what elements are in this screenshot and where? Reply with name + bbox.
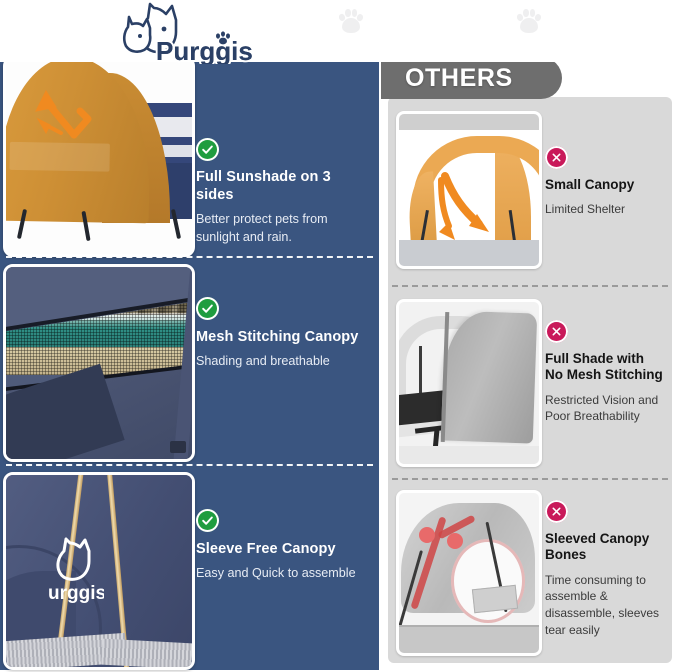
feature-title: Sleeve Free Canopy: [196, 540, 372, 558]
sunshade-direction-arrows-icon: [16, 77, 136, 157]
dog-and-cat-head-logo-icon: Purggis Purggis: [112, 2, 262, 64]
cross-circle-icon: [545, 320, 568, 343]
drawback-title: Small Canopy: [545, 177, 665, 193]
drawback-row-1: Small Canopy Limited Shelter: [388, 97, 672, 282]
cross-glyph: [551, 152, 562, 163]
others-banner: OTHERS: [381, 57, 562, 99]
brand-logo: Purggis Purggis: [112, 2, 262, 64]
purggis-watermark-logo-icon: urggis: [40, 537, 104, 607]
drawback-title: Sleeved Canopy Bones: [545, 531, 665, 564]
check-circle-icon: [196, 509, 219, 532]
row-divider: [6, 256, 373, 258]
row-divider: [392, 478, 668, 480]
svg-text:urggis: urggis: [48, 583, 104, 604]
drawback-text-1: Small Canopy Limited Shelter: [545, 177, 665, 218]
drawback-image-3: [396, 490, 542, 656]
cross-circle-icon: [545, 500, 568, 523]
feature-image-3: urggis: [3, 472, 195, 670]
drawback-title: Full Shade with No Mesh Stitching: [545, 351, 665, 384]
drawback-row-2: Full Shade with No Mesh Stitching Restri…: [388, 285, 672, 475]
check-glyph: [201, 302, 214, 315]
drawback-row-3: Sleeved Canopy Bones Time consuming to a…: [388, 478, 672, 663]
cross-circle-icon: [545, 146, 568, 169]
feature-title: Mesh Stitching Canopy: [196, 328, 372, 346]
row-divider: [392, 285, 668, 287]
paw-print-icon: [338, 8, 364, 34]
feature-subtitle: Shading and breathable: [196, 353, 372, 371]
comparison-infographic: OTHERS Purggis Purggis: [0, 0, 679, 670]
header-bar: [0, 0, 679, 62]
cross-glyph: [551, 506, 562, 517]
check-glyph: [201, 514, 214, 527]
drawback-text-3: Sleeved Canopy Bones Time consuming to a…: [545, 531, 665, 638]
feature-row-1: Full Sunshade on 3 sides Better protect …: [0, 46, 379, 254]
row-divider: [6, 464, 373, 466]
check-circle-icon: [196, 297, 219, 320]
drawback-text-2: Full Shade with No Mesh Stitching Restri…: [545, 351, 665, 425]
feature-title: Full Sunshade on 3 sides: [196, 168, 372, 204]
others-label: OTHERS: [405, 64, 513, 93]
check-circle-icon: [196, 138, 219, 161]
feature-text-3: Sleeve Free Canopy Easy and Quick to ass…: [196, 540, 372, 583]
feature-subtitle: Easy and Quick to assemble: [196, 565, 372, 583]
drawback-image-2: [396, 299, 542, 467]
feature-row-3: urggis Sleeve Free Canopy Easy and Quick…: [0, 464, 379, 672]
svg-text:Purggis: Purggis: [156, 36, 253, 64]
feature-text-1: Full Sunshade on 3 sides Better protect …: [196, 168, 372, 247]
feature-subtitle: Better protect pets from sunlight and ra…: [196, 211, 372, 247]
paw-print-icon: [516, 8, 542, 34]
cross-glyph: [551, 326, 562, 337]
feature-row-2: Mesh Stitching Canopy Shading and breath…: [0, 256, 379, 464]
feature-image-1: [3, 56, 195, 257]
drawback-subtitle: Limited Shelter: [545, 201, 665, 218]
limited-shelter-arrows-icon: [423, 170, 519, 250]
feature-image-2: [3, 264, 195, 462]
drawback-subtitle: Time consuming to assemble & disassemble…: [545, 572, 665, 638]
drawback-image-1: [396, 111, 542, 269]
check-glyph: [201, 143, 214, 156]
drawback-subtitle: Restricted Vision and Poor Breathability: [545, 392, 665, 425]
feature-text-2: Mesh Stitching Canopy Shading and breath…: [196, 328, 372, 371]
